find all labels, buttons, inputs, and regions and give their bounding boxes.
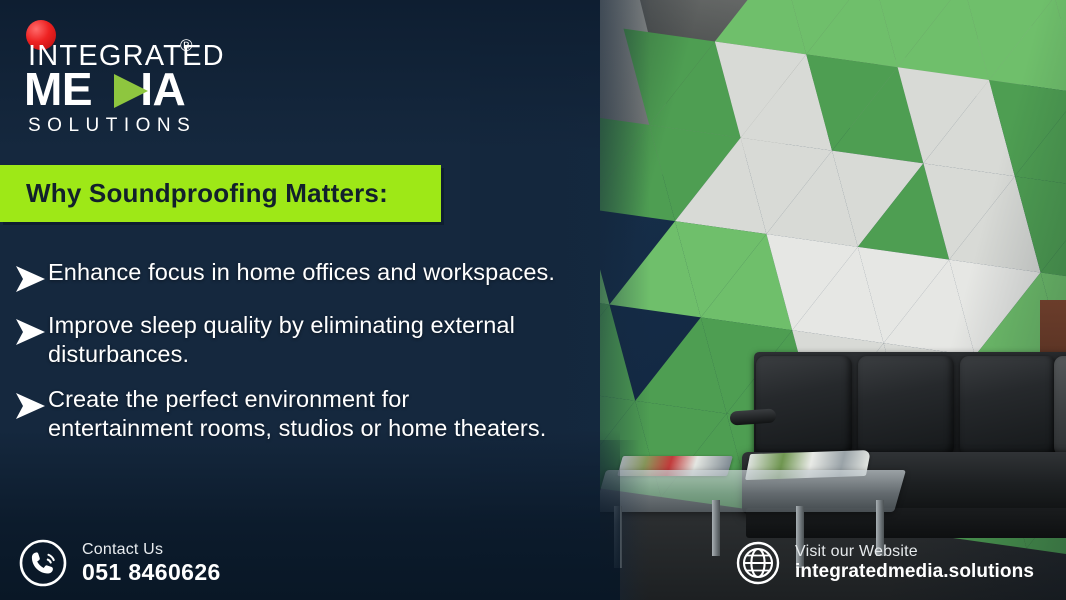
arrow-bullet-icon xyxy=(12,317,48,347)
arrow-bullet-icon xyxy=(12,391,48,421)
sofa-cushion xyxy=(960,356,1056,456)
headline-text: Why Soundproofing Matters: xyxy=(26,178,388,209)
company-logo[interactable]: INTEGRATED ® MEXIA SOLUTIONS xyxy=(14,18,204,123)
contact-text: Contact Us 051 8460626 xyxy=(82,541,221,586)
advertisement-creative: INTEGRATED ® MEXIA SOLUTIONS Why Soundpr… xyxy=(0,0,1066,600)
benefits-list: Enhance focus in home offices and worksp… xyxy=(12,258,557,460)
list-item: Enhance focus in home offices and worksp… xyxy=(12,258,557,294)
contact-label: Contact Us xyxy=(82,541,221,559)
globe-icon xyxy=(735,540,781,586)
list-item-label: Create the perfect environment for enter… xyxy=(48,385,557,442)
logo-line-media: MEXIA xyxy=(24,66,185,112)
phone-circle-icon xyxy=(18,538,68,588)
website-block[interactable]: Visit our Website integratedmedia.soluti… xyxy=(735,540,1034,586)
sofa-grey-pillow xyxy=(1054,356,1066,456)
logo-me: ME xyxy=(24,63,92,115)
registered-trademark-icon: ® xyxy=(180,36,193,56)
headline-banner: Why Soundproofing Matters: xyxy=(0,165,441,222)
list-item: Create the perfect environment for enter… xyxy=(12,385,557,442)
list-item: Improve sleep quality by eliminating ext… xyxy=(12,311,557,368)
contact-block[interactable]: Contact Us 051 8460626 xyxy=(18,538,221,588)
sofa-cushion xyxy=(858,356,954,456)
play-triangle-icon xyxy=(114,74,148,108)
website-label: Visit our Website xyxy=(795,543,1034,561)
logo-line-solutions: SOLUTIONS xyxy=(28,115,196,137)
table-leg xyxy=(712,500,720,556)
website-url[interactable]: integratedmedia.solutions xyxy=(795,561,1034,583)
website-text: Visit our Website integratedmedia.soluti… xyxy=(795,543,1034,583)
list-item-label: Enhance focus in home offices and worksp… xyxy=(48,258,555,287)
sofa-cushion xyxy=(756,356,852,456)
contact-phone-number[interactable]: 051 8460626 xyxy=(82,559,221,585)
list-item-label: Improve sleep quality by eliminating ext… xyxy=(48,311,557,368)
arrow-bullet-icon xyxy=(12,264,48,294)
